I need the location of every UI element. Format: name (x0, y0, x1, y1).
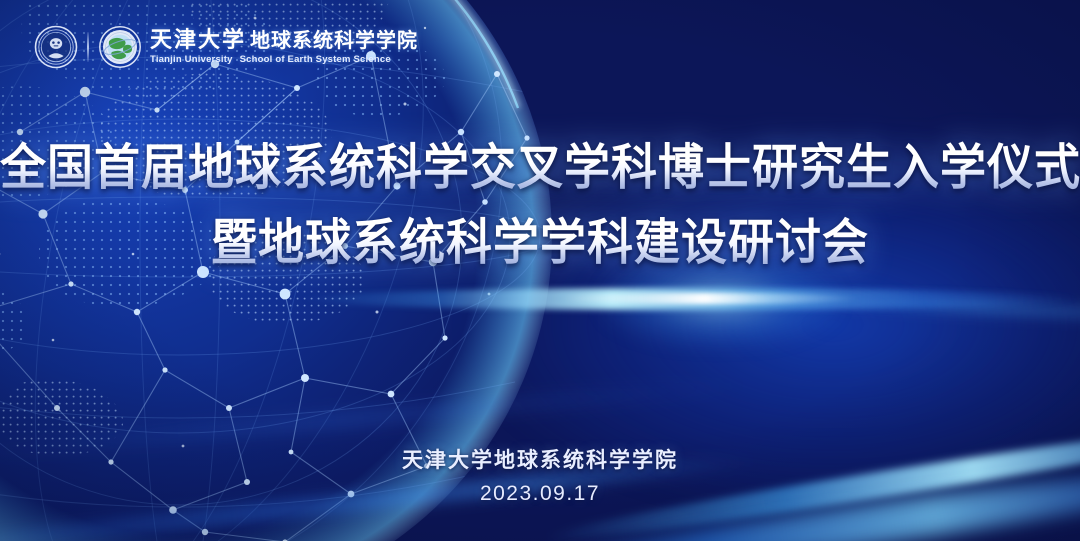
footer-date: 2023.09.17 (0, 482, 1080, 506)
footer-organizer: 天津大学地球系统科学学院 (0, 444, 1080, 474)
earth-globe-orbit-icon (98, 25, 142, 69)
logo-english-line: Tianjin UniversitySchool of Earth System… (150, 55, 418, 65)
logo-school-cn: 地球系统科学学院 (250, 30, 418, 52)
logo-university-cn: 天津大学 (150, 27, 246, 52)
logo-school-en: School of Earth System Science (240, 54, 391, 65)
logo-chinese-line: 天津大学地球系统科学学院 (150, 29, 418, 51)
logo-lockup: 天津大学地球系统科学学院 Tianjin UniversitySchool of… (34, 23, 418, 71)
logo-university-en: Tianjin University (150, 54, 233, 65)
footer-block: 天津大学地球系统科学学院 2023.09.17 (0, 444, 1080, 506)
lens-flare-core (560, 293, 860, 304)
title-line-1: 全国首届地球系统科学交叉学科博士研究生入学仪式 (0, 140, 1080, 194)
logo-text-block: 天津大学地球系统科学学院 Tianjin UniversitySchool of… (150, 29, 418, 65)
vertical-divider-icon (87, 32, 89, 62)
tianjin-university-seal-icon (34, 25, 78, 69)
title-line-2: 暨地球系统科学学科建设研讨会 (0, 215, 1080, 269)
poster-canvas: 天津大学地球系统科学学院 Tianjin UniversitySchool of… (0, 0, 1080, 541)
title-area: 全国首届地球系统科学交叉学科博士研究生入学仪式 暨地球系统科学学科建设研讨会 (0, 142, 1080, 267)
